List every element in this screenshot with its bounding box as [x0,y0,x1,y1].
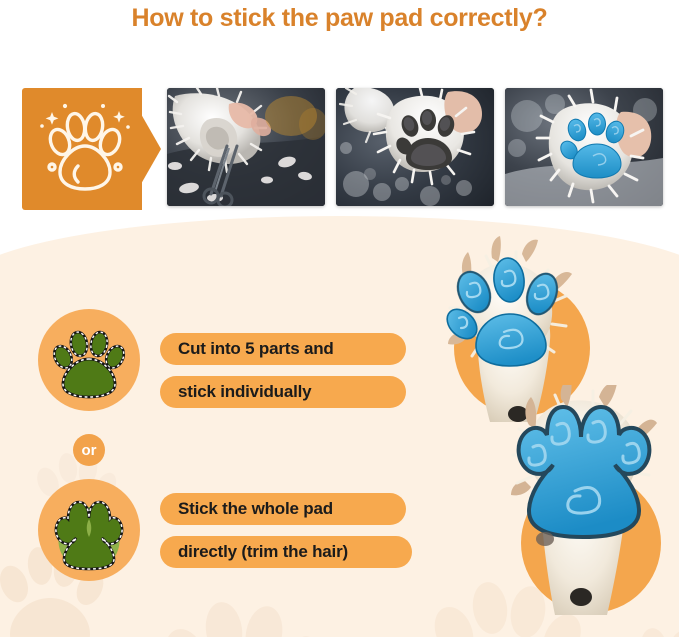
paw-print-sparkle-icon [34,94,134,204]
option-whole-line-2: directly (trim the hair) [160,536,412,568]
or-separator-badge: or [73,434,105,466]
page-title: How to stick the paw pad correctly? [0,4,679,33]
photo-clean-pad [336,88,494,206]
photo-trim-hair [167,88,325,206]
paw-badge [22,88,157,210]
photo-blue-pads-applied [505,88,663,206]
top-photo-strip [22,88,658,210]
option-cut-line-1: Cut into 5 parts and [160,333,406,365]
paw-five-parts-icon [38,309,140,411]
paw-whole-pad-icon [38,479,140,581]
watermark-paw-icon [150,586,330,637]
arrow-right-icon [141,114,161,184]
option-cut-line-2: stick individually [160,376,406,408]
paw-with-whole-blue-pad [495,385,679,620]
option-whole-line-1: Stick the whole pad [160,493,406,525]
infographic-page: How to stick the paw pad correctly? [0,0,679,637]
